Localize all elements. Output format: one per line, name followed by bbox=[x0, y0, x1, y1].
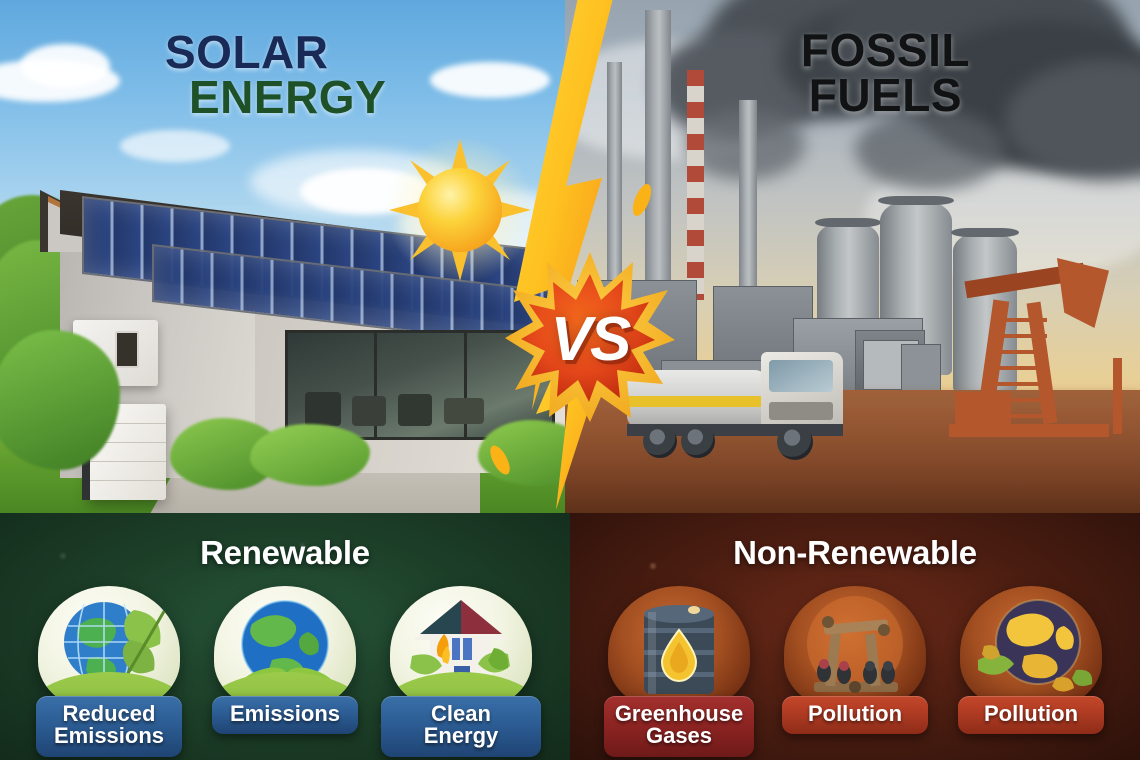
globe-with-leaf-icon bbox=[38, 586, 180, 712]
solar-title-line1: SOLAR bbox=[165, 30, 386, 75]
fossil-title-line2: FUELS bbox=[801, 73, 962, 118]
shrub-icon bbox=[250, 424, 370, 486]
badge-pollution-1[interactable]: Pollution bbox=[782, 696, 928, 734]
non-renewable-panel-title: Non-Renewable bbox=[570, 534, 1140, 572]
cloud-icon bbox=[120, 130, 230, 162]
fossil-title-line1: FOSSIL bbox=[801, 28, 970, 73]
cooling-tower-rim bbox=[815, 218, 881, 227]
oil-barrel-icon bbox=[608, 586, 750, 712]
patio-chair bbox=[305, 392, 341, 426]
patio-chair bbox=[352, 396, 386, 426]
truck-grille bbox=[769, 402, 833, 420]
truck-wheel bbox=[777, 424, 813, 460]
badge-clean-energy[interactable]: Clean Energy bbox=[381, 696, 541, 757]
solar-title: SOLAR ENERGY bbox=[165, 30, 386, 120]
striped-smokestack bbox=[687, 70, 704, 300]
renewable-cards: Reduced Emissions Emissions bbox=[0, 586, 570, 757]
card-greenhouse-gases[interactable]: Greenhouse Gases bbox=[599, 586, 759, 757]
badge-greenhouse-gases[interactable]: Greenhouse Gases bbox=[604, 696, 754, 757]
card-emissions[interactable]: Emissions bbox=[205, 586, 365, 757]
bolt-spark bbox=[629, 182, 655, 219]
card-reduced-emissions[interactable]: Reduced Emissions bbox=[29, 586, 189, 757]
cooling-tower-rim bbox=[878, 196, 954, 205]
truck-wheel bbox=[681, 424, 715, 458]
pumpjack-skid bbox=[949, 424, 1109, 437]
infographic-canvas: VS SOLAR ENERGY FOSSIL FUELS Renewable bbox=[0, 0, 1140, 760]
card-clean-energy[interactable]: Clean Energy bbox=[381, 586, 541, 757]
eco-house-icon bbox=[390, 586, 532, 712]
bolt-spark bbox=[486, 443, 513, 478]
renewable-panel-title: Renewable bbox=[0, 534, 570, 572]
renewable-panel: Renewable bbox=[0, 513, 570, 760]
smoke-plume bbox=[855, 110, 1005, 190]
pumpjack-wellhead bbox=[1113, 358, 1122, 434]
card-pollution-pumpjack[interactable]: Pollution bbox=[775, 586, 935, 757]
fossil-title: FOSSIL FUELS bbox=[801, 28, 970, 118]
cloud-icon bbox=[20, 44, 110, 88]
card-pollution-globe[interactable]: Pollution bbox=[951, 586, 1111, 757]
badge-pollution-2[interactable]: Pollution bbox=[958, 696, 1104, 734]
truck-windshield bbox=[769, 360, 833, 392]
badge-emissions[interactable]: Emissions bbox=[212, 696, 358, 734]
non-renewable-cards: Greenhouse Gases bbox=[570, 586, 1140, 757]
polluted-globe-icon bbox=[960, 586, 1102, 712]
non-renewable-panel: Non-Renewable bbox=[570, 513, 1140, 760]
badge-reduced-emissions[interactable]: Reduced Emissions bbox=[36, 696, 182, 757]
smokestack bbox=[739, 100, 757, 290]
patio-chair bbox=[398, 394, 432, 426]
versus-badge: VS bbox=[505, 252, 675, 422]
oil-pumpjack-icon bbox=[784, 586, 926, 712]
pumpjack-ladder bbox=[997, 318, 1047, 418]
versus-label: VS bbox=[505, 254, 675, 424]
solar-title-line2: ENERGY bbox=[189, 75, 386, 120]
inverter-display bbox=[115, 331, 139, 368]
plant-building bbox=[901, 344, 941, 392]
earth-globe-leaf-icon bbox=[214, 586, 356, 712]
cooling-tower-rim bbox=[951, 228, 1019, 237]
